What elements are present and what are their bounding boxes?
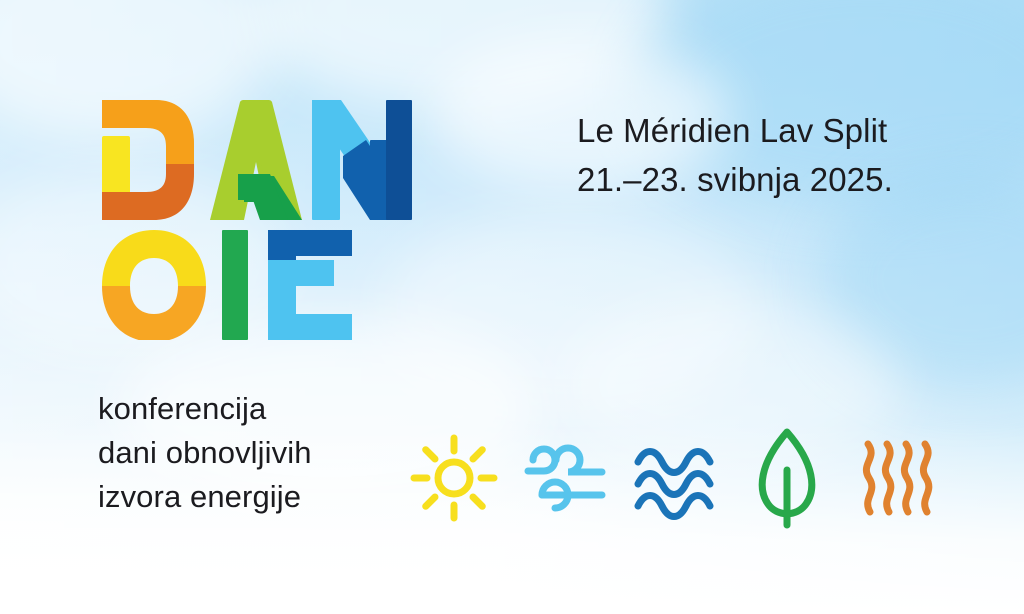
energy-source-icon-row [406, 418, 946, 538]
logo-letter-o-top [102, 230, 206, 286]
logo-letter-i-dani [386, 100, 412, 220]
logo-letter-o-bottom [102, 286, 206, 340]
tagline-line-2: dani obnovljivih [98, 431, 428, 475]
conference-tagline: konferencija dani obnovljivih izvora ene… [98, 387, 428, 519]
logo-letter-e-bottom [268, 260, 352, 340]
dani-oie-logo: DANI OIE logo [98, 96, 414, 340]
leaf-icon [739, 423, 835, 533]
venue-and-date: Le Méridien Lav Split 21.–23. svibnja 20… [577, 106, 997, 204]
tagline-line-3: izvora energije [98, 475, 428, 519]
logo-letter-d-bar [102, 136, 130, 196]
geothermal-icon [850, 423, 946, 533]
conference-banner: DANI OIE logo [0, 0, 1024, 614]
sun-icon [406, 423, 502, 533]
venue-name: Le Méridien Lav Split [577, 106, 997, 155]
logo-letter-i-oie [222, 230, 248, 340]
event-dates: 21.–23. svibnja 2025. [577, 155, 997, 204]
tagline-line-1: konferencija [98, 387, 428, 431]
wind-icon [517, 423, 613, 533]
water-waves-icon [628, 423, 724, 533]
